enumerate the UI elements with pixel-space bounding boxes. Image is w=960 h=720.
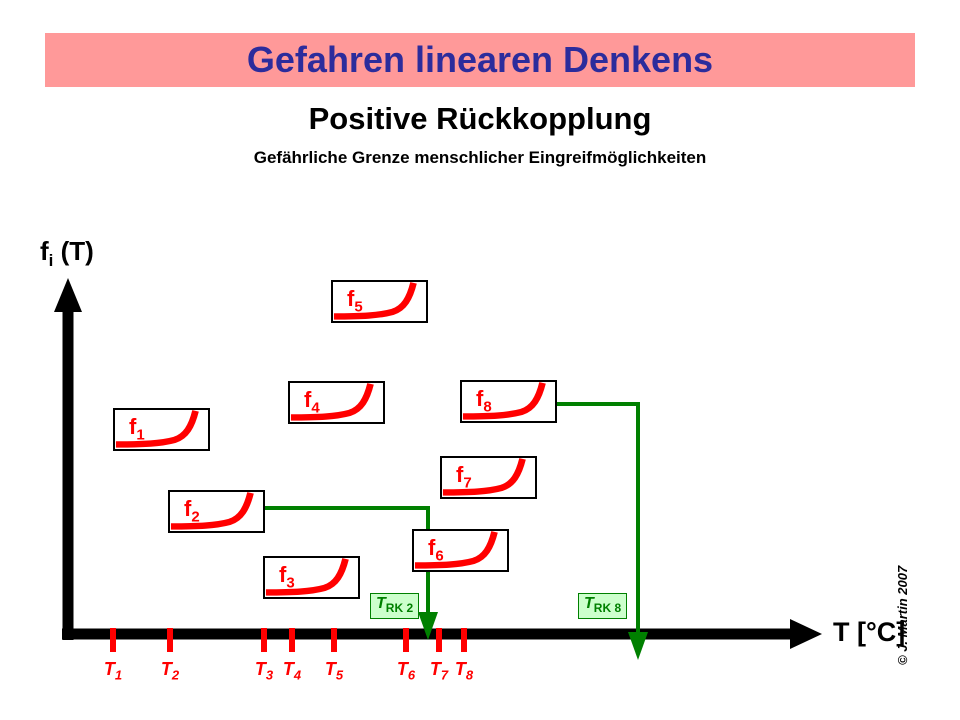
tick-label-sub: 2: [172, 668, 179, 683]
y-axis-label-tail: (T): [53, 236, 93, 266]
tick-label-T7: T7: [430, 659, 448, 683]
function-box-f6: f6: [412, 529, 509, 572]
tick-label-sub: 8: [466, 668, 473, 683]
function-label-f5: f5: [347, 286, 363, 315]
tick-label-main: T: [430, 659, 441, 679]
tick-label-main: T: [455, 659, 466, 679]
feedback-line-f8: [557, 404, 648, 660]
threshold-label-main: T: [584, 595, 594, 612]
threshold-label-main: T: [376, 595, 386, 612]
tick-label-main: T: [283, 659, 294, 679]
function-box-f5: f5: [331, 280, 428, 323]
page-title: Gefahren linearen Denkens: [45, 36, 915, 84]
slide-canvas: Gefahren linearen Denkens Positive Rückk…: [0, 0, 960, 720]
function-label-f6: f6: [428, 535, 444, 564]
tick-label-T5: T5: [325, 659, 343, 683]
tick-label-T6: T6: [397, 659, 415, 683]
function-label-f3: f3: [279, 562, 295, 591]
function-label-f7: f7: [456, 462, 472, 491]
function-label-sub: 4: [311, 399, 319, 416]
tick-label-main: T: [161, 659, 172, 679]
function-label-sub: 3: [286, 574, 294, 591]
function-label-f1: f1: [129, 414, 145, 443]
tick-label-sub: 3: [266, 668, 273, 683]
subtitle: Positive Rückkopplung: [0, 101, 960, 137]
y-axis-label-main: f: [40, 236, 49, 266]
tick-label-T3: T3: [255, 659, 273, 683]
function-box-f1: f1: [113, 408, 210, 451]
tick-label-main: T: [397, 659, 408, 679]
function-label-sub: 5: [354, 298, 362, 315]
copyright-notice: © J. Martin 2007: [895, 525, 910, 665]
tick-label-sub: 6: [408, 668, 415, 683]
function-label-sub: 2: [191, 508, 199, 525]
tick-label-main: T: [325, 659, 336, 679]
function-label-sub: 6: [435, 547, 443, 564]
tick-label-main: T: [104, 659, 115, 679]
function-box-f4: f4: [288, 381, 385, 424]
function-label-sub: 1: [136, 426, 144, 443]
tick-label-sub: 4: [294, 668, 301, 683]
threshold-tag-TRK2: TRK 2: [370, 593, 419, 619]
function-box-f3: f3: [263, 556, 360, 599]
sub-subtitle: Gefährliche Grenze menschlicher Eingreif…: [0, 148, 960, 168]
tick-label-sub: 1: [115, 668, 122, 683]
tick-label-sub: 7: [441, 668, 448, 683]
tick-label-T2: T2: [161, 659, 179, 683]
y-axis: [54, 278, 82, 640]
function-label-sub: 7: [463, 474, 471, 491]
tick-label-T1: T1: [104, 659, 122, 683]
function-label-f2: f2: [184, 496, 200, 525]
y-axis-label: fi (T): [40, 236, 94, 271]
tick-label-T8: T8: [455, 659, 473, 683]
function-label-f8: f8: [476, 386, 492, 415]
threshold-tag-TRK8: TRK 8: [578, 593, 627, 619]
threshold-label-sub: RK 2: [386, 601, 413, 615]
function-label-sub: 8: [483, 398, 491, 415]
threshold-label-sub: RK 8: [594, 601, 621, 615]
function-box-f7: f7: [440, 456, 537, 499]
tick-label-T4: T4: [283, 659, 301, 683]
function-label-f4: f4: [304, 387, 320, 416]
function-box-f2: f2: [168, 490, 265, 533]
function-box-f8: f8: [460, 380, 557, 423]
tick-label-main: T: [255, 659, 266, 679]
tick-marks-group: [113, 628, 464, 652]
x-axis: [62, 619, 822, 649]
tick-label-sub: 5: [336, 668, 343, 683]
